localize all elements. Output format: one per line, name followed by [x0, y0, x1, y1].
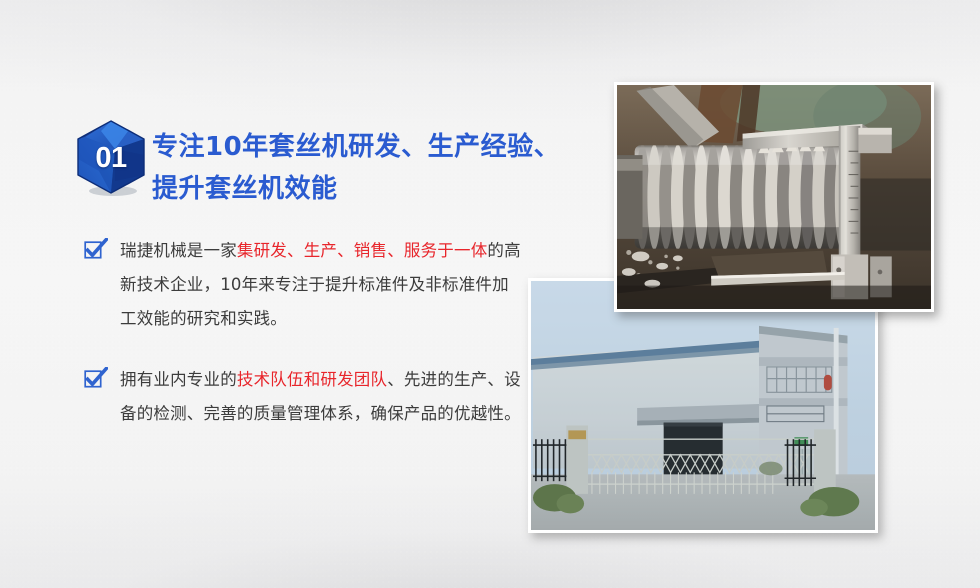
section-number-badge: 01 [75, 119, 147, 197]
feature-list: 瑞捷机械是一家集研发、生产、销售、服务于一体的高新技术企业，10年来专注于提升标… [84, 234, 524, 458]
list-item: 瑞捷机械是一家集研发、生产、销售、服务于一体的高新技术企业，10年来专注于提升标… [84, 234, 524, 336]
content-column: 01 专注10年套丝机研发、生产经验、 提升套丝机效能 瑞捷机械是一家集研发、生… [0, 0, 560, 588]
list-item-text: 拥有业内专业的技术队伍和研发团队、先进的生产、设备的检测、完善的质量管理体系，确… [120, 370, 521, 423]
threaded-rod-caliper-photo [614, 82, 934, 312]
text-segment: 拥有业内专业的 [120, 370, 237, 389]
factory-building-photo [528, 278, 878, 533]
checkbox-check-icon [84, 238, 108, 260]
text-segment-highlight: 技术队伍和研发团队 [237, 370, 387, 389]
promo-banner: 01 专注10年套丝机研发、生产经验、 提升套丝机效能 瑞捷机械是一家集研发、生… [0, 0, 980, 588]
page-title: 专注10年套丝机研发、生产经验、 提升套丝机效能 [152, 126, 552, 210]
text-segment: 瑞捷机械是一家 [120, 241, 237, 260]
text-segment-highlight: 集研发、生产、销售、服务于一体 [237, 241, 488, 260]
page-title-line-1: 专注10年套丝机研发、生产经验、 [152, 126, 552, 168]
list-item-text: 瑞捷机械是一家集研发、生产、销售、服务于一体的高新技术企业，10年来专注于提升标… [120, 241, 521, 328]
list-item: 拥有业内专业的技术队伍和研发团队、先进的生产、设备的检测、完善的质量管理体系，确… [84, 363, 524, 431]
checkbox-check-icon [84, 367, 108, 389]
page-title-line-2: 提升套丝机效能 [152, 168, 552, 210]
section-number-text: 01 [75, 119, 147, 197]
